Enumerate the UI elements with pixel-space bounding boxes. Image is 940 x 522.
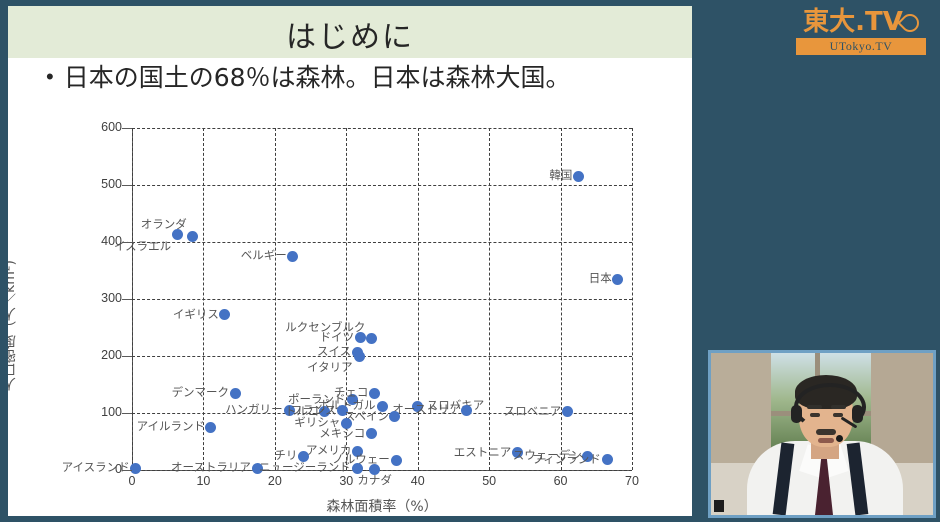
y-tick-label: 100 [88, 405, 122, 419]
data-point [287, 251, 298, 262]
data-point-label: フィンランド [532, 453, 601, 465]
plot-area: アイスランドオランダイスラエルベルギーイギリスデンマークアイルランドオーストラリ… [132, 128, 632, 470]
data-point-label: アイルランド [137, 420, 205, 432]
data-point-label: フランス [291, 404, 337, 416]
headset-earcup-right [852, 405, 863, 423]
data-point [355, 332, 366, 343]
gridline-horizontal [132, 356, 632, 357]
data-point-label: イタリア [307, 361, 353, 373]
x-axis-title: 森林面積率（%） [132, 496, 632, 516]
data-point-label: メキシコ [319, 427, 365, 439]
gridline-horizontal [132, 299, 632, 300]
x-tick-label: 70 [612, 474, 652, 488]
data-point [366, 333, 377, 344]
data-point [602, 454, 613, 465]
logo-sub-text: UTokyo.TV [796, 38, 926, 55]
data-point [461, 405, 472, 416]
logo-wordmark: 東大.TV [803, 7, 903, 37]
presenter-webcam[interactable] [708, 350, 936, 518]
data-point [187, 231, 198, 242]
data-point-label: 日本 [589, 272, 612, 284]
y-tick-mark [122, 413, 132, 414]
headset-earcup-left [791, 405, 802, 423]
data-point-label: ハンガリー [225, 403, 283, 415]
y-tick-label: 500 [88, 177, 122, 191]
y-tick-label: 600 [88, 120, 122, 134]
data-point-label: オーストリア [392, 403, 460, 415]
data-point-label: ドイツ [320, 331, 355, 343]
data-point [612, 274, 623, 285]
page-title: はじめに [8, 12, 692, 56]
data-point-label: チェコ [334, 386, 369, 398]
x-tick-label: 0 [112, 474, 152, 488]
data-point-label: エストニア [454, 446, 512, 458]
gridline-vertical [632, 128, 633, 470]
utokyo-tv-logo: 東大.TV UTokyo.TV [796, 8, 926, 60]
bullet-text: 日本の国土の68％は森林。日本は森林大国。 [64, 62, 571, 94]
gridline-horizontal [132, 128, 632, 129]
data-point [230, 388, 241, 399]
data-point-label: オランダ [141, 218, 187, 230]
screen-capture: はじめに • 日本の国土の68％は森林。日本は森林大国。 人口密度（人／km²)… [0, 0, 940, 522]
data-point [366, 428, 377, 439]
x-tick-label: 50 [469, 474, 509, 488]
data-point [130, 463, 141, 474]
data-point [391, 455, 402, 466]
data-point [219, 309, 230, 320]
data-point-label: デンマーク [172, 386, 230, 398]
data-point [352, 463, 363, 474]
gridline-horizontal [132, 185, 632, 186]
data-point-label: カナダ [357, 474, 392, 486]
data-point-label: ニュージーランド [259, 461, 351, 473]
y-tick-mark [122, 356, 132, 357]
data-point [205, 422, 216, 433]
x-tick-label: 20 [255, 474, 295, 488]
data-point-label: 韓国 [549, 169, 572, 181]
data-point [354, 351, 365, 362]
data-point-label: オーストラリア [171, 461, 251, 473]
x-tick-label: 40 [398, 474, 438, 488]
data-point-label: スイス [317, 345, 351, 357]
data-point-label: イギリス [173, 308, 219, 320]
y-tick-mark [122, 242, 132, 243]
data-point [573, 171, 584, 182]
scatter-chart: 人口密度（人／km²) 森林面積率（%） 0100200300400500600… [8, 110, 692, 510]
data-point [369, 388, 380, 399]
logo-main-text: 東大.TV [796, 8, 926, 36]
y-axis-title: 人口密度（人／km²) [8, 260, 20, 391]
data-point [562, 406, 573, 417]
gridline-horizontal [132, 242, 632, 243]
y-tick-label: 300 [88, 291, 122, 305]
mouth [818, 438, 834, 443]
bullet-line: • 日本の国土の68％は森林。日本は森林大国。 [46, 62, 686, 94]
x-tick-label: 10 [183, 474, 223, 488]
presentation-slide: はじめに • 日本の国土の68％は森林。日本は森林大国。 人口密度（人／km²)… [8, 6, 692, 516]
data-point-label: ベルギー [241, 249, 287, 261]
x-tick-label: 60 [541, 474, 581, 488]
y-tick-mark [122, 470, 132, 471]
data-point [389, 411, 400, 422]
y-tick-label: 200 [88, 348, 122, 362]
data-point-label: スロベニア [504, 405, 562, 417]
y-tick-mark [122, 299, 132, 300]
y-tick-mark [122, 185, 132, 186]
data-point-label: アイスランド [62, 461, 130, 473]
data-point [172, 229, 183, 240]
bullet-marker-icon: • [46, 62, 54, 92]
webcam-scene [711, 353, 933, 515]
headset-microphone-icon [836, 435, 843, 442]
webcam-corner-badge [714, 500, 724, 512]
y-tick-mark [122, 128, 132, 129]
